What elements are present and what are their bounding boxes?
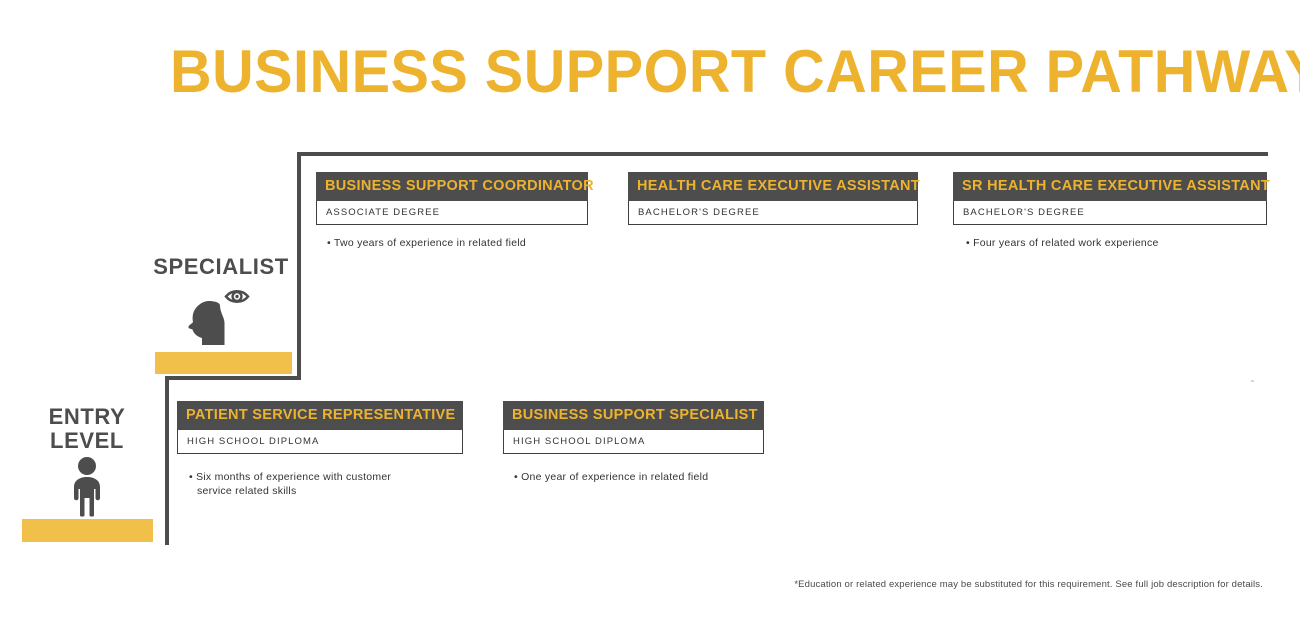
- requirement-item-continuation: service related skills: [189, 484, 414, 498]
- head-with-eye-icon: [150, 283, 292, 354]
- requirement-item: • One year of experience in related fiel…: [514, 470, 764, 484]
- pathway-specialist-vertical-line: [297, 152, 301, 380]
- job-card-requirements-business-support-specialist: • One year of experience in related fiel…: [514, 470, 764, 484]
- stray-mark: [1251, 380, 1254, 382]
- job-card-sr-health-care-executive-assistant[interactable]: SR HEALTH CARE EXECUTIVE ASSISTANT BACHE…: [953, 172, 1267, 225]
- job-card-education: BACHELOR'S DEGREE: [628, 201, 918, 225]
- job-card-education: ASSOCIATE DEGREE: [316, 201, 588, 225]
- requirement-item: • Six months of experience with customer: [189, 470, 414, 484]
- tier-entry-level-label-line2: LEVEL: [18, 429, 156, 453]
- job-card-health-care-executive-assistant[interactable]: HEALTH CARE EXECUTIVE ASSISTANT BACHELOR…: [628, 172, 918, 225]
- job-card-education: HIGH SCHOOL DIPLOMA: [503, 430, 764, 454]
- job-card-patient-service-representative[interactable]: PATIENT SERVICE REPRESENTATIVE HIGH SCHO…: [177, 401, 463, 454]
- job-card-title: BUSINESS SUPPORT SPECIALIST: [503, 401, 764, 430]
- job-card-title: HEALTH CARE EXECUTIVE ASSISTANT: [628, 172, 918, 201]
- job-card-business-support-coordinator[interactable]: BUSINESS SUPPORT COORDINATOR ASSOCIATE D…: [316, 172, 588, 225]
- person-standing-icon: [18, 457, 156, 522]
- pathway-entry-vertical-line: [165, 376, 169, 545]
- tier-specialist-bar: [155, 352, 292, 374]
- career-pathway-infographic: BUSINESS SUPPORT CAREER PATHWAY SPECIALI…: [0, 0, 1300, 637]
- job-card-requirements-business-support-coordinator: • Two years of experience in related fie…: [327, 236, 597, 250]
- pathway-top-rule: [297, 152, 1268, 156]
- job-card-requirements-patient-service-representative: • Six months of experience with customer…: [189, 470, 414, 498]
- page-title: BUSINESS SUPPORT CAREER PATHWAY: [170, 36, 1300, 108]
- tier-entry-level-label-line1: ENTRY: [18, 405, 156, 429]
- job-card-education: BACHELOR'S DEGREE: [953, 201, 1267, 225]
- job-card-title: PATIENT SERVICE REPRESENTATIVE: [177, 401, 463, 430]
- job-card-business-support-specialist[interactable]: BUSINESS SUPPORT SPECIALIST HIGH SCHOOL …: [503, 401, 764, 454]
- job-card-title: BUSINESS SUPPORT COORDINATOR: [316, 172, 588, 201]
- footnote: *Education or related experience may be …: [794, 579, 1263, 590]
- requirement-item: • Two years of experience in related fie…: [327, 236, 597, 250]
- tier-entry-level-bar: [22, 519, 153, 542]
- job-card-requirements-sr-health-care-executive-assistant: • Four years of related work experience: [966, 236, 1266, 250]
- job-card-title: SR HEALTH CARE EXECUTIVE ASSISTANT: [953, 172, 1267, 201]
- requirement-item: • Four years of related work experience: [966, 236, 1266, 250]
- tier-specialist-label: SPECIALIST: [150, 255, 292, 279]
- job-card-education: HIGH SCHOOL DIPLOMA: [177, 430, 463, 454]
- pathway-step-horizontal-line: [165, 376, 301, 380]
